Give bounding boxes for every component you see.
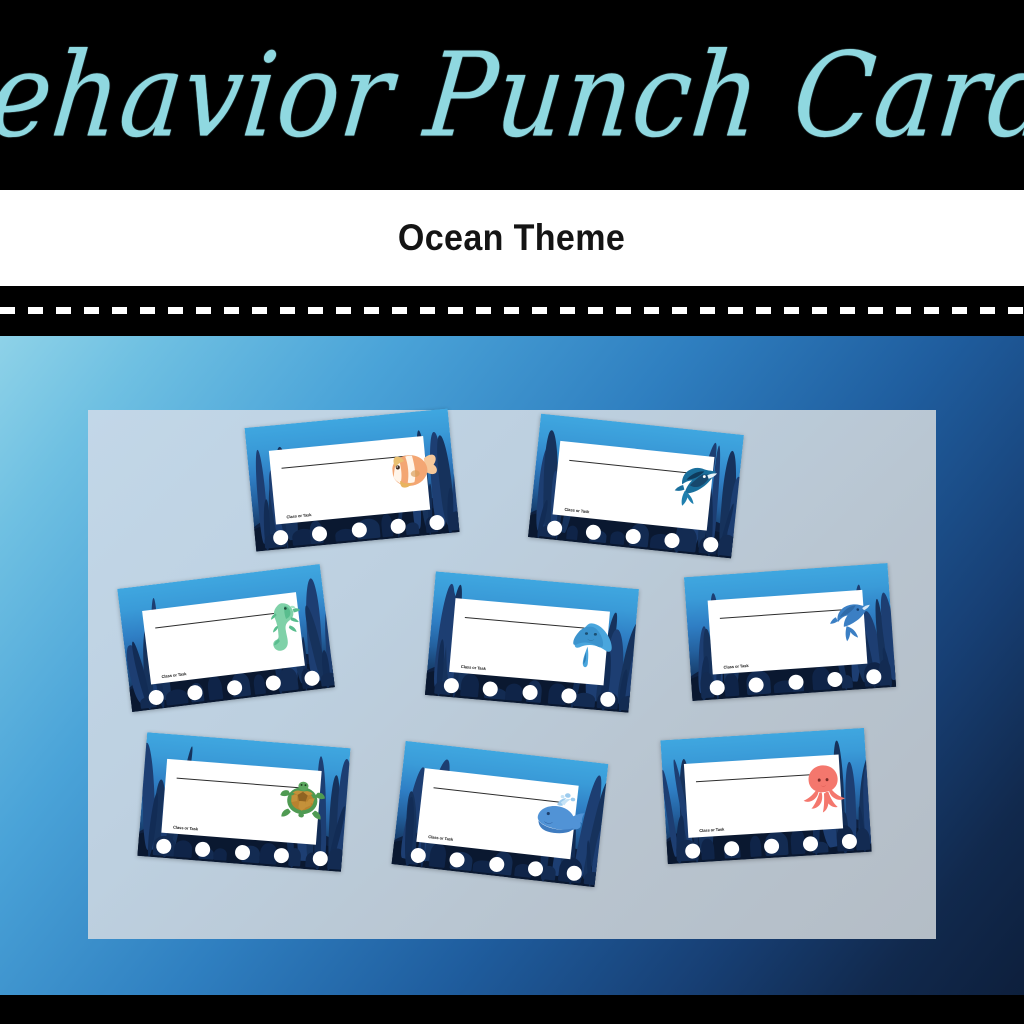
punch-circle[interactable] <box>483 681 499 697</box>
punch-circle[interactable] <box>265 674 282 691</box>
punch-circle[interactable] <box>312 850 328 866</box>
card-caption: Class or Task <box>461 664 486 671</box>
punch-circle[interactable] <box>226 679 243 696</box>
punch-circle[interactable] <box>724 840 740 856</box>
card-caption: Class or Task <box>428 835 453 843</box>
card-name-field[interactable]: Class or Task <box>162 759 322 845</box>
punch-circle[interactable] <box>522 684 538 700</box>
card-name-field[interactable]: Class or Task <box>708 590 868 675</box>
name-write-line <box>282 455 412 468</box>
card-name-field[interactable]: Class or Task <box>269 436 430 525</box>
punch-circle[interactable] <box>625 528 641 544</box>
name-write-line <box>570 460 700 475</box>
name-write-line <box>434 787 563 803</box>
dashed-divider <box>0 307 1024 314</box>
punch-circle[interactable] <box>444 677 460 693</box>
card-caption: Class or Task <box>564 507 589 515</box>
punch-circle[interactable] <box>788 674 804 690</box>
name-write-line <box>465 617 595 629</box>
punch-circle[interactable] <box>148 689 165 706</box>
punch-card[interactable]: Class or Task <box>117 564 335 712</box>
punch-circle[interactable] <box>273 529 289 545</box>
punch-circle[interactable] <box>566 865 583 882</box>
punch-circle[interactable] <box>488 856 505 873</box>
punch-circle[interactable] <box>449 851 466 868</box>
punch-circle[interactable] <box>351 522 367 538</box>
punch-circle[interactable] <box>685 843 701 859</box>
card-caption: Class or Task <box>286 513 311 520</box>
card-caption: Class or Task <box>161 672 186 680</box>
punch-circle[interactable] <box>156 838 172 854</box>
card-name-field[interactable]: Class or Task <box>684 754 843 838</box>
punch-card[interactable]: Class or Task <box>684 563 896 701</box>
coral-silhouette <box>855 827 870 850</box>
header-band: Behavior Punch Cards <box>0 0 1024 190</box>
card-name-field[interactable]: Class or Task <box>449 598 610 686</box>
punch-circle[interactable] <box>560 687 576 703</box>
punch-circle[interactable] <box>390 518 406 534</box>
card-caption: Class or Task <box>173 825 198 832</box>
punch-circle[interactable] <box>234 844 250 860</box>
punch-circle[interactable] <box>586 524 602 540</box>
punch-circle[interactable] <box>312 525 328 541</box>
subtitle-text: Ocean Theme <box>398 217 625 259</box>
coral-silhouette <box>620 695 639 711</box>
punch-card[interactable]: Class or Task <box>528 414 744 559</box>
divider-band <box>0 286 1024 336</box>
punch-card[interactable]: Class or Task <box>660 728 871 864</box>
punch-circle[interactable] <box>826 671 842 687</box>
punch-circle[interactable] <box>527 860 544 877</box>
punch-circle[interactable] <box>749 677 765 693</box>
coral-silhouette <box>584 871 605 886</box>
punch-circle[interactable] <box>802 836 818 852</box>
footer-band <box>0 995 1024 1024</box>
punch-card[interactable]: Class or Task <box>425 571 639 712</box>
name-write-line <box>155 611 284 628</box>
punch-circle[interactable] <box>702 536 718 552</box>
punch-circle[interactable] <box>599 691 615 707</box>
card-caption: Class or Task <box>723 663 748 670</box>
punch-circle[interactable] <box>763 838 779 854</box>
poster-page: Behavior Punch Cards Ocean Theme Class o… <box>0 0 1024 1024</box>
punch-circle[interactable] <box>710 679 726 695</box>
name-write-line <box>696 773 826 782</box>
punch-circle[interactable] <box>273 847 289 863</box>
name-write-line <box>720 608 850 618</box>
punch-circle[interactable] <box>428 514 444 530</box>
cards-panel: Class or Task Class or Task Class or Tas… <box>88 410 936 939</box>
punch-circle[interactable] <box>865 668 881 684</box>
coral-silhouette <box>327 848 346 870</box>
punch-card[interactable]: Class or Task <box>392 741 609 887</box>
punch-circle[interactable] <box>663 532 679 548</box>
punch-circle[interactable] <box>187 684 204 701</box>
coral-silhouette <box>320 672 335 686</box>
ocean-background: Class or Task Class or Task Class or Tas… <box>0 336 1024 995</box>
page-title: Behavior Punch Cards <box>0 37 1024 153</box>
punch-card[interactable]: Class or Task <box>137 732 350 872</box>
punch-circle[interactable] <box>303 670 320 687</box>
punch-circle[interactable] <box>410 847 427 864</box>
name-write-line <box>177 777 307 788</box>
subtitle-band: Ocean Theme <box>0 190 1024 286</box>
punch-circle[interactable] <box>841 833 857 849</box>
punch-circle[interactable] <box>547 520 563 536</box>
card-caption: Class or Task <box>699 827 724 834</box>
punch-card[interactable]: Class or Task <box>245 409 460 552</box>
punch-circle[interactable] <box>195 841 211 857</box>
